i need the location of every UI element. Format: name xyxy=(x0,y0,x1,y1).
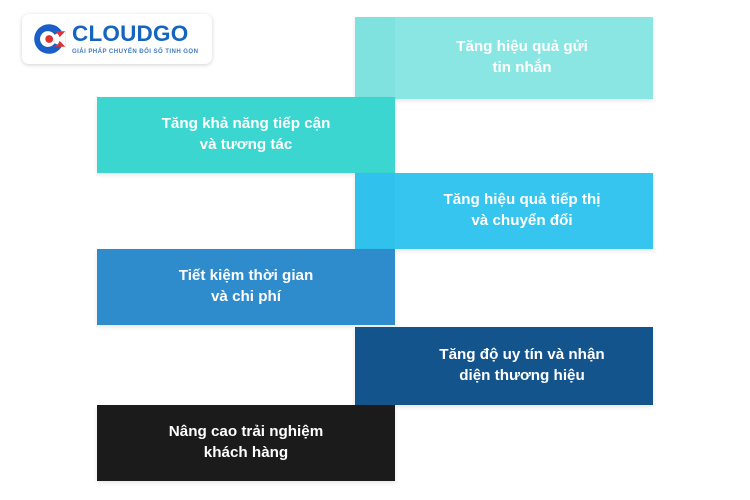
benefit-bar-1-overlap-strip xyxy=(355,17,395,99)
benefit-bar-6-label: Nâng cao trải nghiệm khách hàng xyxy=(155,422,337,464)
cloudgo-logo-badge[interactable]: CLOUDGO GIẢI PHÁP CHUYỂN ĐỔI SỐ TINH GỌN xyxy=(22,14,212,64)
benefit-bar-1[interactable]: Tăng hiệu quả gửi tin nhắn xyxy=(355,17,653,99)
benefit-bar-2[interactable]: Tăng khả năng tiếp cận và tương tác xyxy=(97,97,395,173)
cloudgo-c-arrow-icon xyxy=(30,20,68,58)
cloudgo-logo-text: CLOUDGO GIẢI PHÁP CHUYỂN ĐỔI SỐ TINH GỌN xyxy=(72,23,198,55)
cloudgo-tagline: GIẢI PHÁP CHUYỂN ĐỔI SỐ TINH GỌN xyxy=(72,49,198,55)
benefit-bar-4-label: Tiết kiệm thời gian và chi phí xyxy=(165,266,328,308)
benefit-bar-3-label: Tăng hiệu quả tiếp thị và chuyển đổi xyxy=(430,190,615,232)
infographic-canvas: CLOUDGO GIẢI PHÁP CHUYỂN ĐỔI SỐ TINH GỌN… xyxy=(0,0,750,500)
cloudgo-logo-mark xyxy=(30,20,68,58)
benefit-bar-2-label: Tăng khả năng tiếp cận và tương tác xyxy=(148,114,345,156)
benefit-bar-5-label: Tăng độ uy tín và nhận diện thương hiệu xyxy=(425,345,618,387)
benefit-bar-3[interactable]: Tăng hiệu quả tiếp thị và chuyển đổi xyxy=(355,173,653,249)
benefit-bar-5-overlap-strip xyxy=(355,327,395,405)
benefit-bar-4[interactable]: Tiết kiệm thời gian và chi phí xyxy=(97,249,395,325)
benefit-bar-1-label: Tăng hiệu quả gửi tin nhắn xyxy=(442,37,602,79)
benefit-bar-6[interactable]: Nâng cao trải nghiệm khách hàng xyxy=(97,405,395,481)
benefit-bar-5[interactable]: Tăng độ uy tín và nhận diện thương hiệu xyxy=(355,327,653,405)
benefit-bar-3-overlap-strip xyxy=(355,173,395,249)
cloudgo-wordmark: CLOUDGO xyxy=(72,23,198,46)
